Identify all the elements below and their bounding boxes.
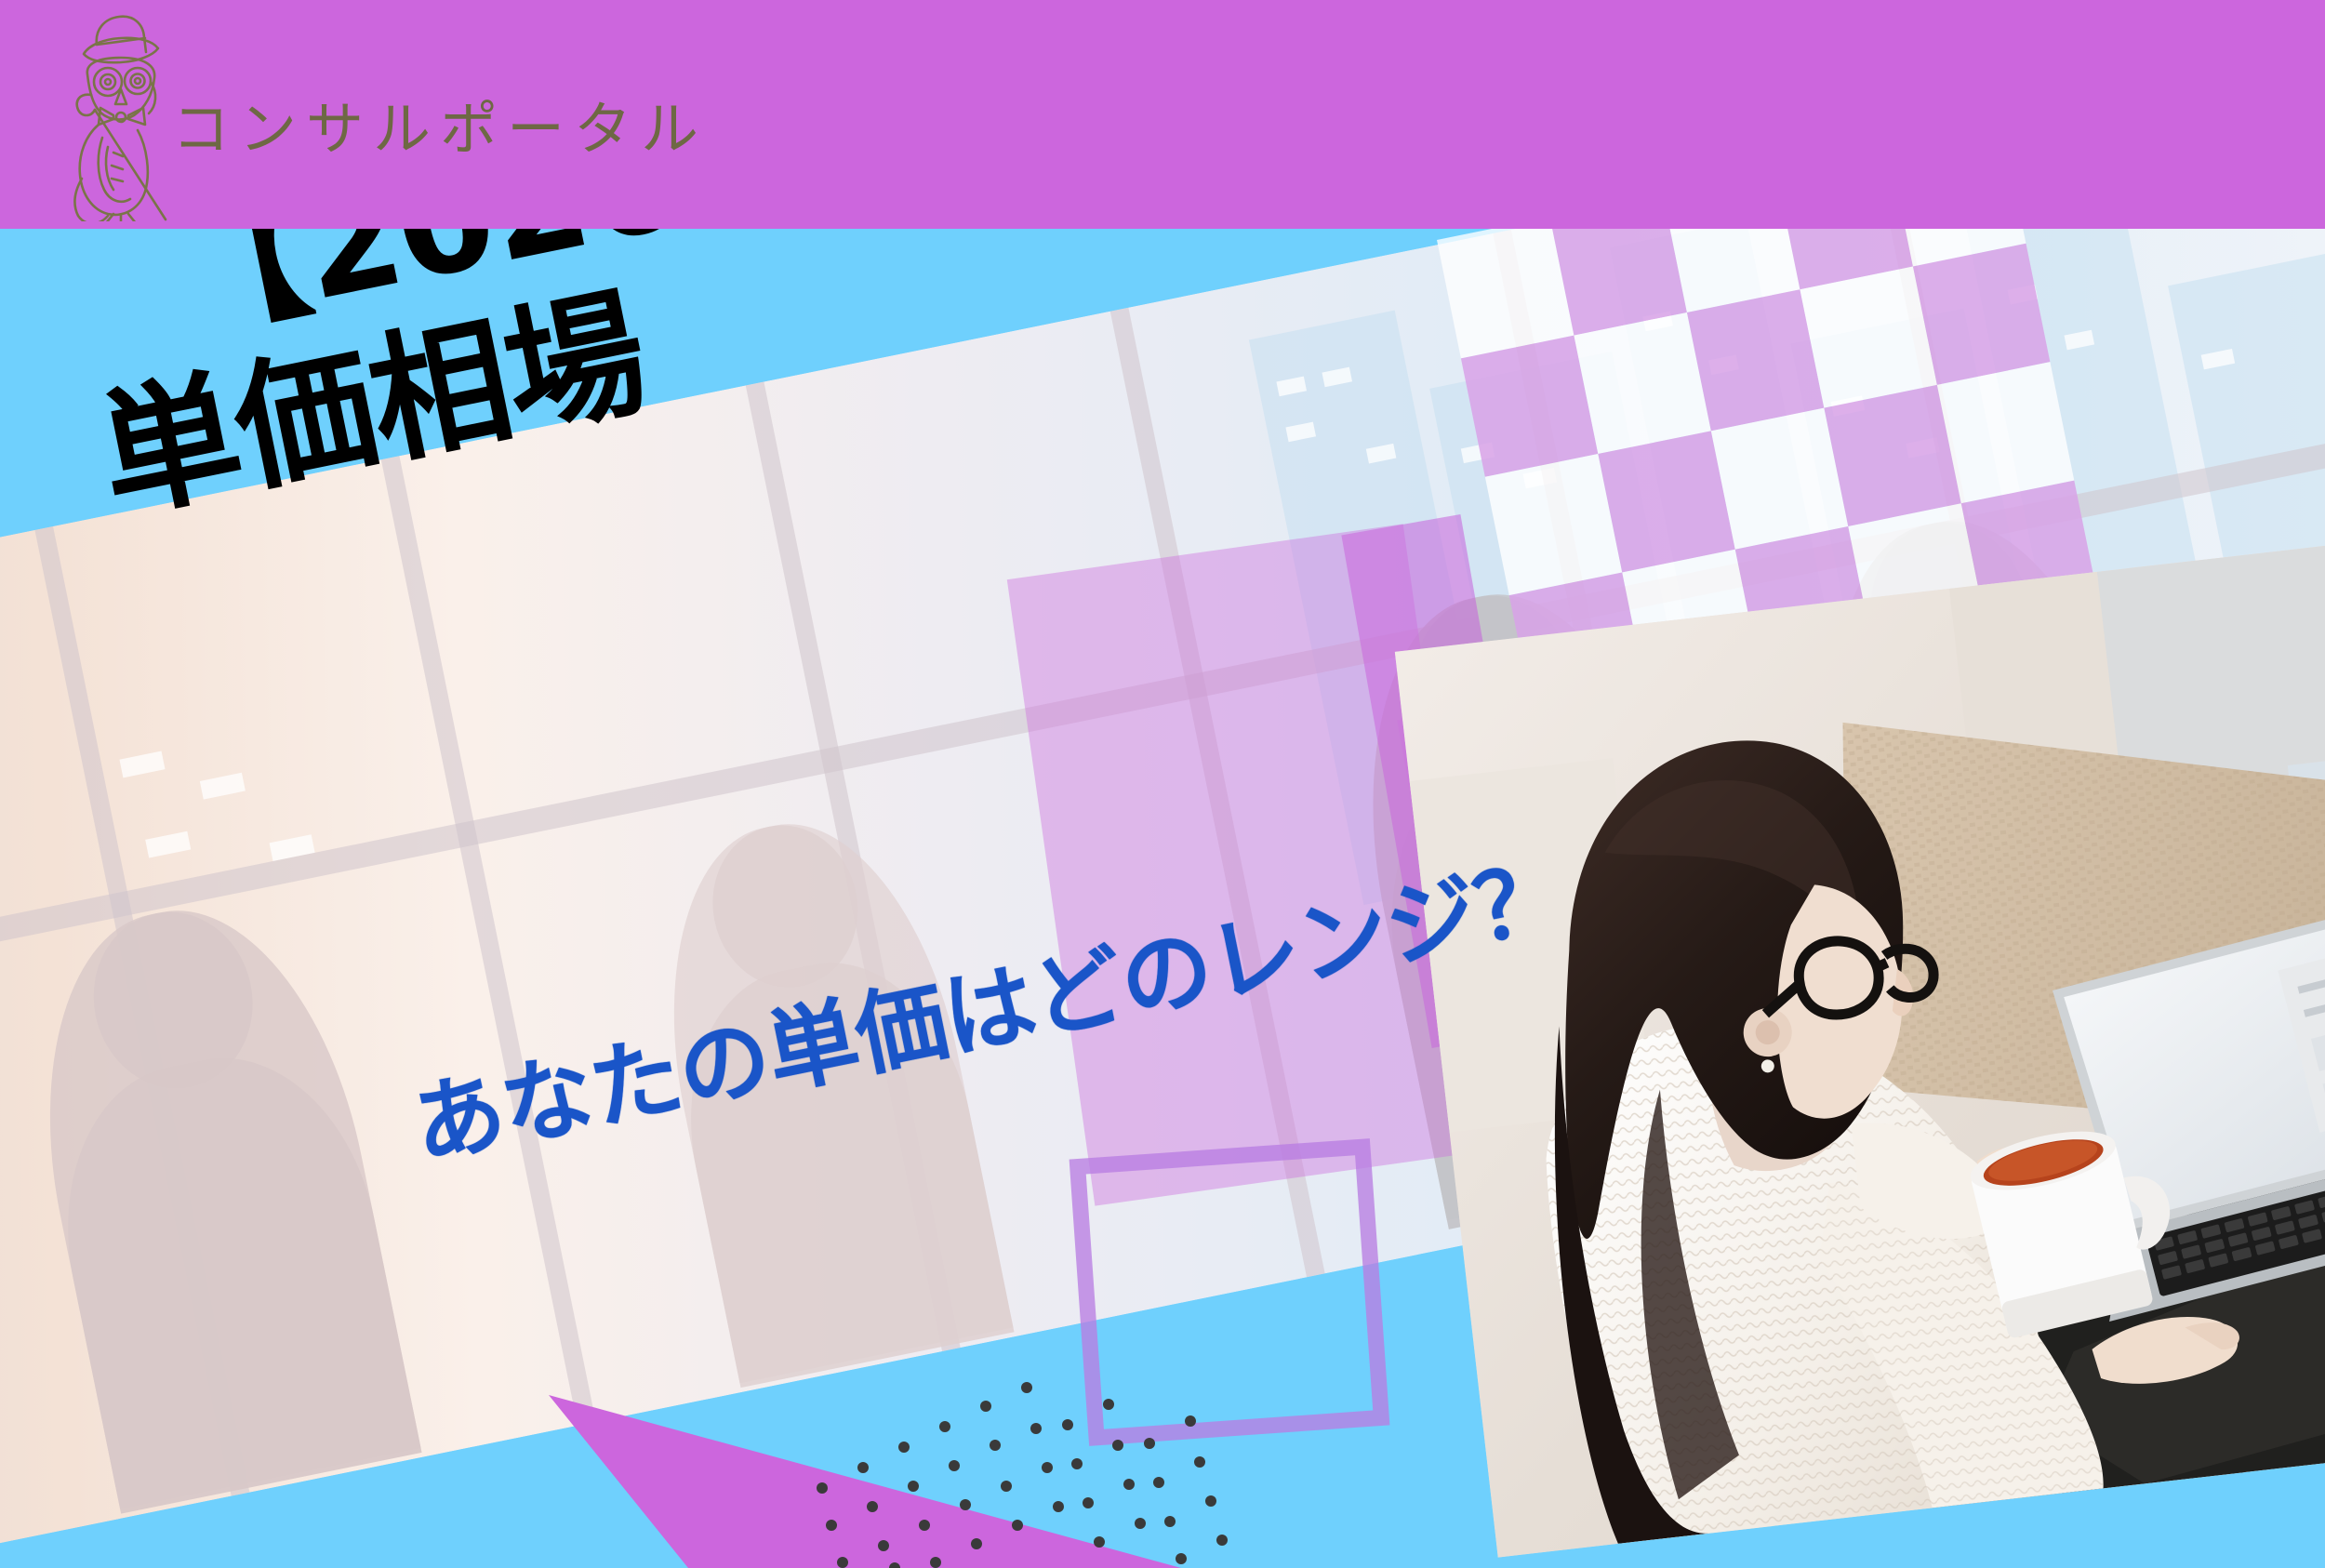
woman-with-laptop-photo xyxy=(1395,544,2325,1557)
site-header: コンサルポータル xyxy=(0,0,2325,229)
owl-logo-icon[interactable] xyxy=(56,7,186,221)
site-brand-title: コンサルポータル xyxy=(172,82,708,166)
thumbnail-canvas: 【2026年版】フリーランスITコンサルの 単価相場 あなたの単価はどのレンジ？ xyxy=(0,0,2325,1568)
dot-grid-pattern xyxy=(809,1376,1237,1568)
